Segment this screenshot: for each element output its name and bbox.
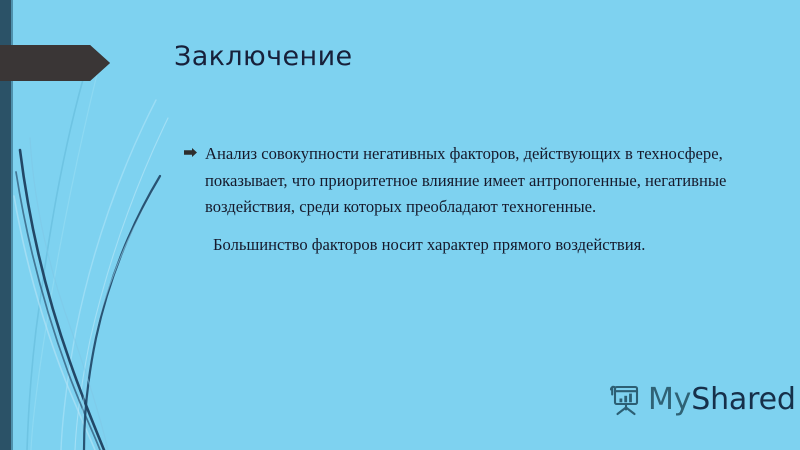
flipchart-bar-chart-icon — [604, 380, 644, 420]
list-item: Анализ совокупности негативных факторов,… — [184, 141, 762, 221]
page-title: Заключение — [174, 41, 353, 72]
logo-text-shared: Shared — [691, 382, 795, 417]
slide-body: Анализ совокупности негативных факторов,… — [184, 141, 762, 258]
right-arrow-banner-icon — [0, 45, 110, 81]
myshared-logo[interactable]: MyShared — [604, 378, 796, 422]
list-item-label: Анализ совокупности негативных факторов,… — [205, 141, 762, 221]
arrow-bullet-icon — [184, 148, 197, 157]
logo-text-my: My — [648, 382, 691, 417]
body-paragraph: Большинство факторов носит характер прям… — [184, 232, 762, 259]
myshared-logo-text: MyShared — [648, 385, 796, 415]
slide-canvas: Заключение Анализ совокупности негативны… — [0, 0, 800, 450]
